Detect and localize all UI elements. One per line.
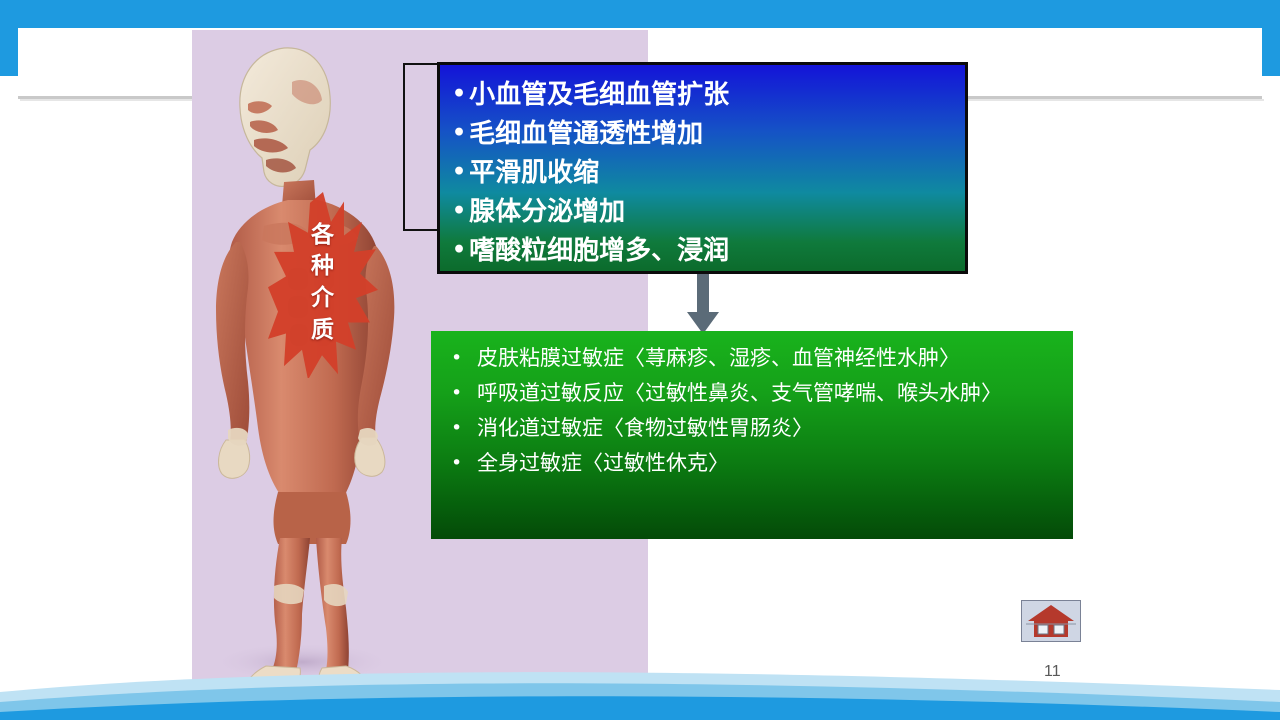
starburst-line-3: 介: [311, 283, 335, 315]
mediator-effect-item: 嗜酸粒细胞增多、浸润: [452, 231, 953, 270]
mediator-effects-list: 小血管及毛细血管扩张 毛细血管通透性增加 平滑肌收缩 腺体分泌增加 嗜酸粒细胞增…: [452, 75, 953, 270]
mediator-effect-item: 平滑肌收缩: [452, 153, 953, 192]
allergic-manifestations-box: 皮肤粘膜过敏症〈荨麻疹、湿疹、血管神经性水肿〉 呼吸道过敏反应〈过敏性鼻炎、支气…: [431, 331, 1073, 539]
starburst-line-2: 种: [311, 251, 335, 283]
allergic-manifestations-list: 皮肤粘膜过敏症〈荨麻疹、湿疹、血管神经性水肿〉 呼吸道过敏反应〈过敏性鼻炎、支气…: [443, 343, 1063, 479]
home-icon[interactable]: [1021, 600, 1081, 642]
manifestation-item: 消化道过敏症〈食物过敏性胃肠炎〉: [443, 413, 1063, 444]
mediator-effect-item: 小血管及毛细血管扩张: [452, 75, 953, 114]
starburst-label: 各 种 介 质: [268, 188, 378, 378]
down-arrow-icon: [686, 274, 720, 336]
starburst-line-1: 各: [311, 220, 335, 252]
mediator-effects-box: 小血管及毛细血管扩张 毛细血管通透性增加 平滑肌收缩 腺体分泌增加 嗜酸粒细胞增…: [437, 62, 968, 274]
mediator-effect-item: 毛细血管通透性增加: [452, 114, 953, 153]
manifestation-item: 全身过敏症〈过敏性休克〉: [443, 448, 1063, 479]
manifestation-item: 呼吸道过敏反应〈过敏性鼻炎、支气管哮喘、喉头水肿〉: [443, 378, 1063, 409]
mediator-effect-item: 腺体分泌增加: [452, 192, 953, 231]
slide-bottom-wave: [0, 662, 1280, 720]
manifestation-item: 皮肤粘膜过敏症〈荨麻疹、湿疹、血管神经性水肿〉: [443, 343, 1063, 374]
mediators-starburst: 各 种 介 质: [268, 188, 378, 378]
starburst-line-4: 质: [311, 315, 335, 347]
